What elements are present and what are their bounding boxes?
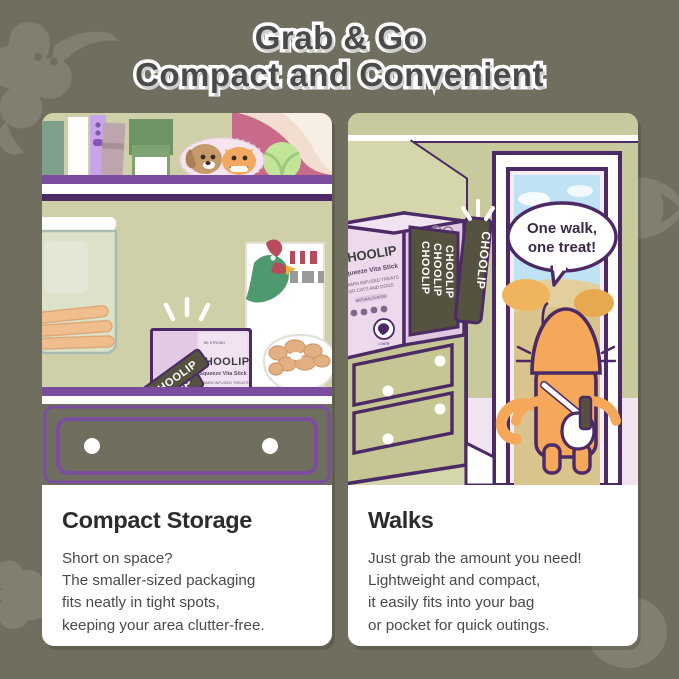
body-line: Just grab the amount you need! bbox=[368, 548, 618, 570]
svg-text:CHOOLIP: CHOOLIP bbox=[443, 245, 455, 299]
body-line: or pocket for quick outings. bbox=[368, 615, 618, 637]
heading-line-2: Compact and Convenient bbox=[0, 57, 679, 94]
body-line: Short on space? bbox=[62, 548, 312, 570]
card-body: Short on space? The smaller-sized packag… bbox=[62, 548, 312, 637]
body-line: The smaller-sized packaging bbox=[62, 570, 312, 592]
body-line: Lightweight and compact, bbox=[368, 570, 618, 592]
bubble-line-1: One walk, bbox=[527, 220, 597, 237]
body-line: it easily fits into your bag bbox=[368, 592, 618, 614]
drawer-knob bbox=[262, 438, 278, 454]
illustration-doorway-cat: One walk, one treat! bbox=[348, 113, 638, 485]
card-body: Just grab the amount you need! Lightweig… bbox=[368, 548, 618, 637]
svg-text:BE STRONG: BE STRONG bbox=[204, 341, 225, 345]
card-text-block: Compact Storage Short on space? The smal… bbox=[42, 485, 332, 637]
svg-text:CHOOLIP: CHOOLIP bbox=[431, 243, 443, 297]
card-title: Compact Storage bbox=[62, 507, 312, 534]
svg-text:CHOOLIP: CHOOLIP bbox=[419, 241, 431, 295]
heading-line-1: Grab & Go bbox=[0, 20, 679, 57]
body-line: keeping your area clutter-free. bbox=[62, 615, 312, 637]
card-text-block: Walks Just grab the amount you need! Lig… bbox=[348, 485, 638, 637]
svg-text:LIVER: LIVER bbox=[379, 342, 390, 346]
drawer-knob bbox=[84, 438, 100, 454]
illustration-pantry-shelf: BE STRONG CHOOLIP Squeeze Vita Stick VIT… bbox=[42, 113, 332, 485]
svg-text:VITAMIN INFUSED TREATS: VITAMIN INFUSED TREATS bbox=[197, 380, 248, 385]
page-title: Grab & Go Compact and Convenient bbox=[0, 20, 679, 94]
feature-card-compact-storage[interactable]: BE STRONG CHOOLIP Squeeze Vita Stick VIT… bbox=[42, 113, 332, 646]
card-title: Walks bbox=[368, 507, 618, 534]
bubble-line-2: one treat! bbox=[528, 239, 596, 256]
body-line: fits neatly in tight spots, bbox=[62, 592, 312, 614]
svg-text:Squeeze Vita Stick: Squeeze Vita Stick bbox=[199, 371, 247, 377]
feature-card-walks[interactable]: One walk, one treat! bbox=[348, 113, 638, 646]
